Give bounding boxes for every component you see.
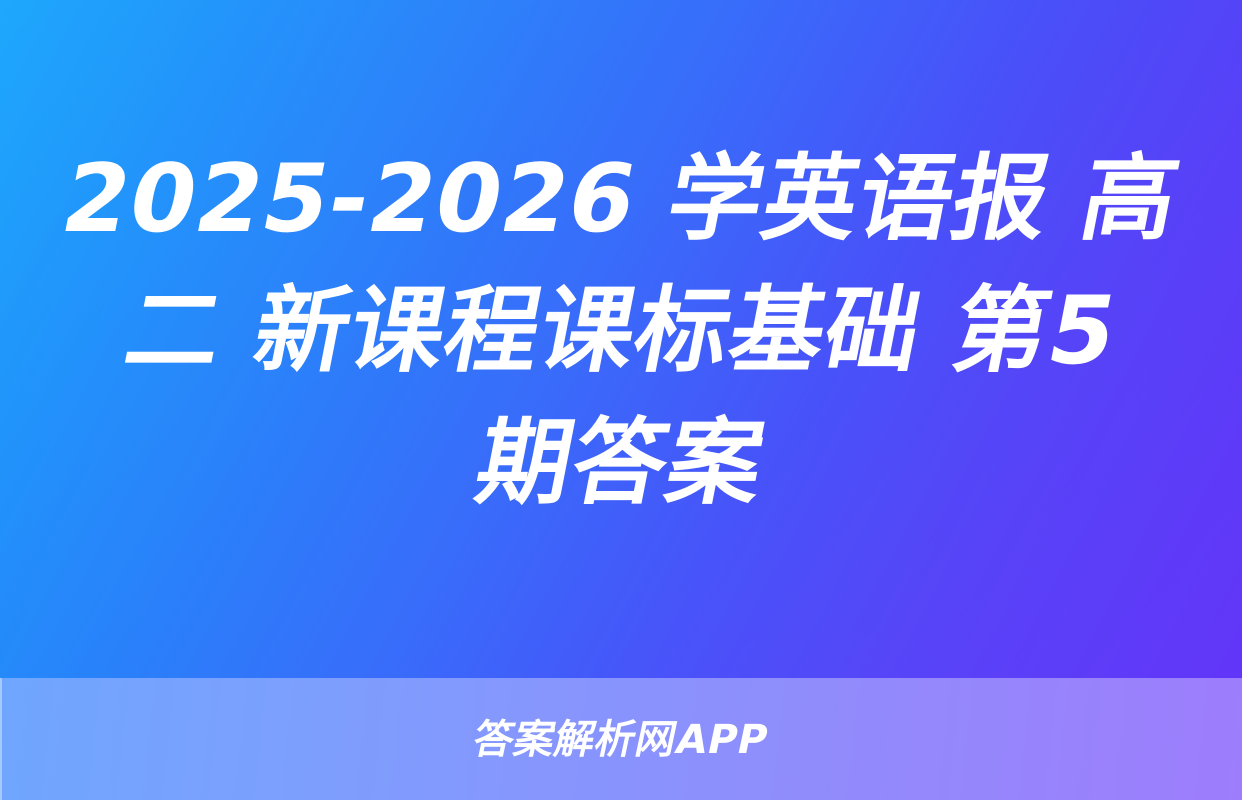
title-line-1: 2025-2026 学英语报 高 (51, 134, 1190, 266)
band-left-edge-highlight (0, 678, 2, 800)
title-block: 2025-2026 学英语报 高 二 新课程课标基础 第5 期答案 (0, 0, 1242, 678)
title-line-3: 期答案 (466, 398, 777, 530)
title-line-2: 二 新课程课标基础 第5 (114, 266, 1129, 398)
watermark-band: 答案解析网APP (0, 678, 1242, 800)
watermark-app-label: 答案解析网APP (469, 717, 772, 763)
answer-cover-card: 2025-2026 学英语报 高 二 新课程课标基础 第5 期答案 答案解析网A… (0, 0, 1242, 800)
